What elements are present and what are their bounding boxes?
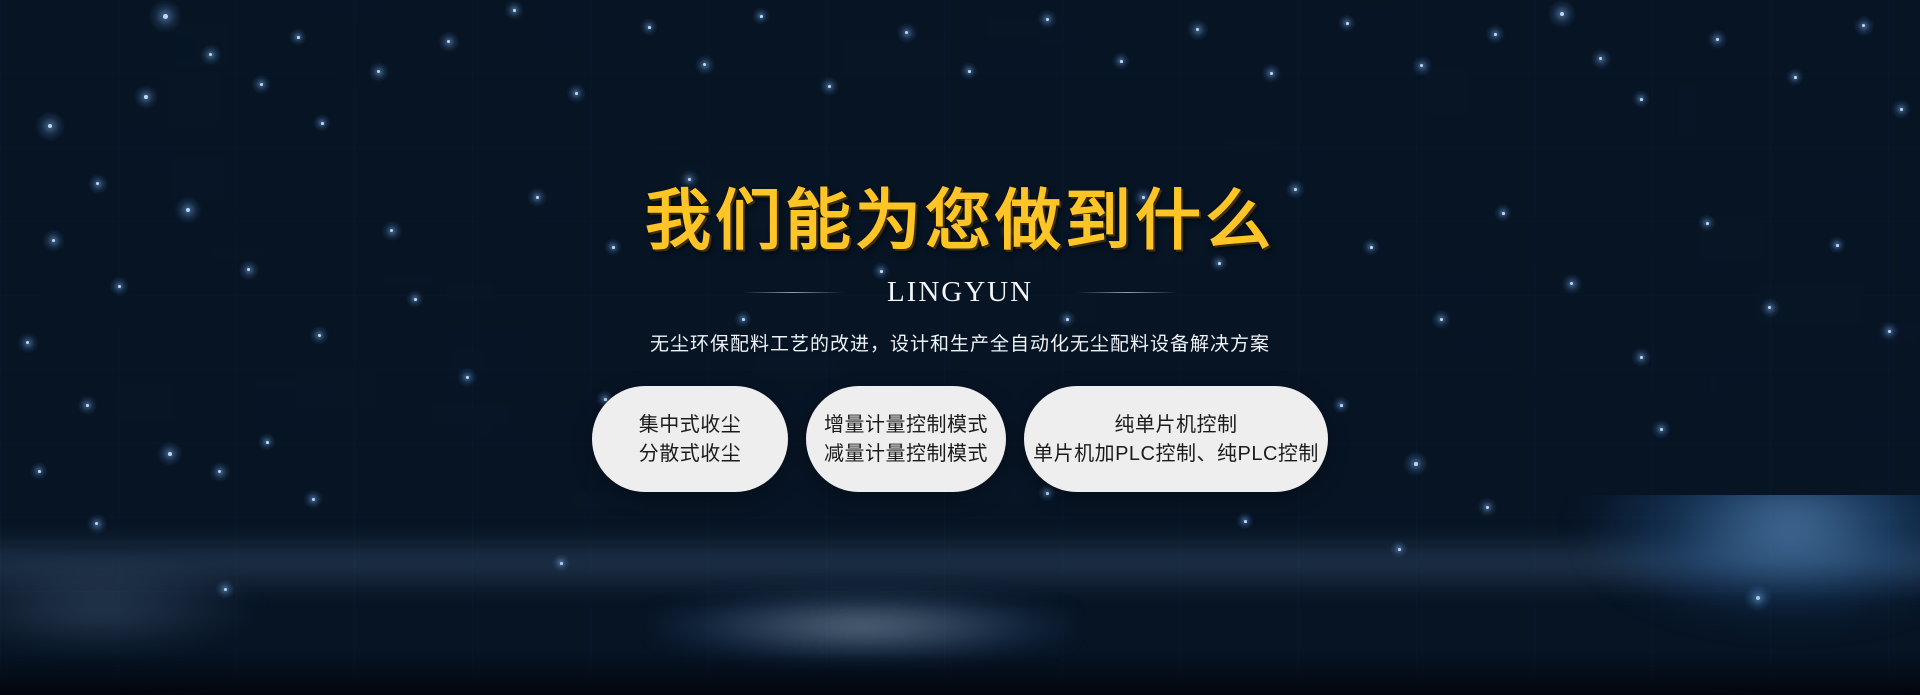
banner-subtitle: 无尘环保配料工艺的改进，设计和生产全自动化无尘配料设备解决方案: [650, 329, 1270, 356]
english-name-row: LINGYUN: [743, 276, 1177, 309]
feature-pill-list: 集中式收尘 分散式收尘 增量计量控制模式 减量计量控制模式 纯单片机控制 单片机…: [592, 386, 1328, 492]
pill-line-2: 单片机加PLC控制、纯PLC控制: [1033, 444, 1319, 464]
feature-pill-metering-mode[interactable]: 增量计量控制模式 减量计量控制模式: [806, 386, 1006, 492]
pill-line-1: 纯单片机控制: [1115, 415, 1238, 435]
feature-pill-control-system[interactable]: 纯单片机控制 单片机加PLC控制、纯PLC控制: [1024, 386, 1328, 492]
feature-pill-dust-collection[interactable]: 集中式收尘 分散式收尘: [592, 386, 788, 492]
hero-banner: 我们能为您做到什么 LINGYUN 无尘环保配料工艺的改进，设计和生产全自动化无…: [0, 0, 1920, 695]
banner-headline: 我们能为您做到什么: [645, 188, 1275, 254]
divider-line-left: [743, 292, 843, 293]
pill-line-1: 增量计量控制模式: [824, 415, 988, 435]
banner-content: 我们能为您做到什么 LINGYUN 无尘环保配料工艺的改进，设计和生产全自动化无…: [0, 0, 1920, 695]
pill-line-2: 分散式收尘: [639, 444, 742, 464]
pill-line-1: 集中式收尘: [639, 415, 742, 435]
brand-english-name: LINGYUN: [887, 276, 1033, 309]
pill-line-2: 减量计量控制模式: [824, 444, 988, 464]
divider-line-right: [1077, 292, 1177, 293]
